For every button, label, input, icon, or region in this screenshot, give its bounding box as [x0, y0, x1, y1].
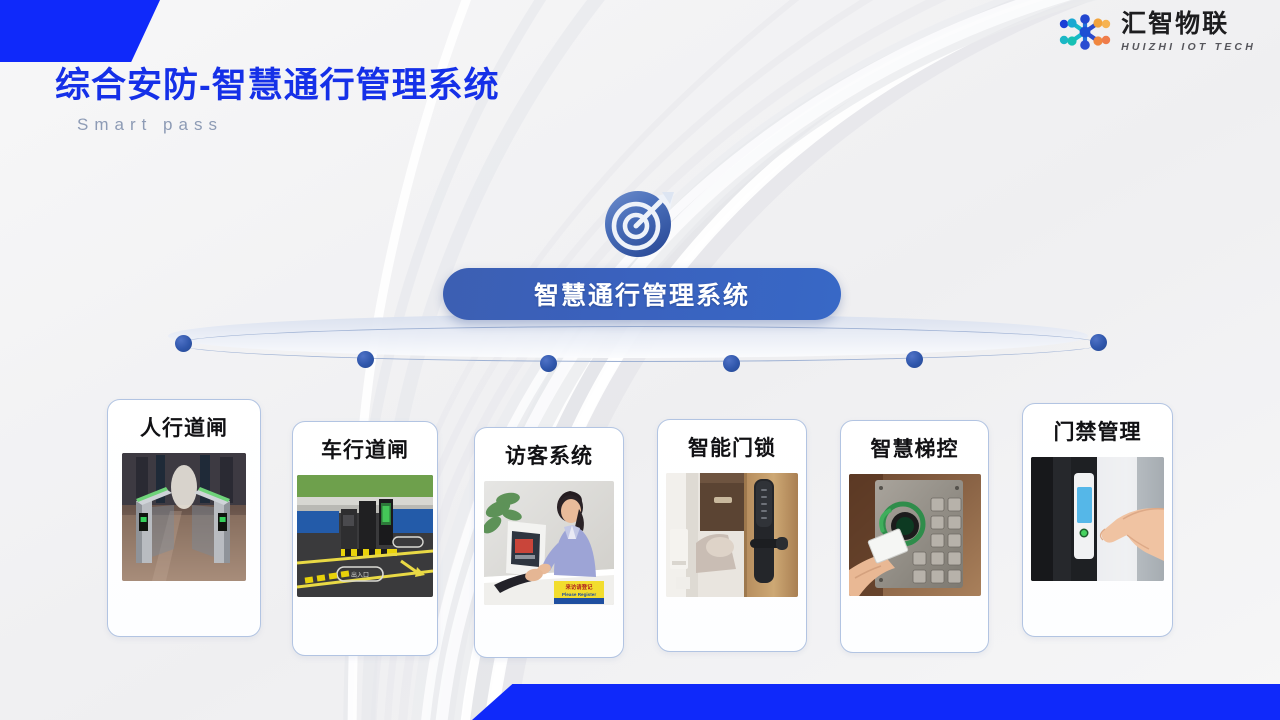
- slide-canvas: 综合安防-智慧通行管理系统 Smart pass 汇智物联 HUIZHI IOT: [0, 0, 1280, 720]
- card-access-control[interactable]: 门禁管理: [1022, 403, 1173, 637]
- brand-logo: 汇智物联 HUIZHI IOT TECH: [1058, 12, 1256, 53]
- access-control-terminal-photo: [1031, 457, 1164, 581]
- connector-dot-6: [1090, 334, 1107, 351]
- svg-text:出入口: 出入口: [351, 571, 369, 579]
- connector-dot-5: [906, 351, 923, 368]
- system-title-label: 智慧通行管理系统: [534, 276, 750, 312]
- bottom-right-accent-bar: [472, 684, 1280, 720]
- visitor-reception-photo: 来访请登记 Please Register: [484, 481, 614, 605]
- card-title: 车行道闸: [321, 434, 409, 464]
- target-arrow-icon: [598, 186, 684, 260]
- card-elevator-control[interactable]: 智慧梯控: [840, 420, 989, 653]
- elevator-card-reader-photo: [849, 474, 981, 596]
- molecule-network-icon: [1058, 12, 1112, 52]
- system-title-pill[interactable]: 智慧通行管理系统: [443, 268, 841, 320]
- brand-name-en: HUIZHI IOT TECH: [1121, 42, 1256, 53]
- svg-text:来访请登记: 来访请登记: [565, 583, 594, 591]
- connector-dot-1: [175, 335, 192, 352]
- vehicle-barrier-gate-photo: 出入口: [297, 475, 433, 597]
- connector-dot-2: [357, 351, 374, 368]
- smart-door-lock-photo: [666, 473, 798, 597]
- svg-text:Please Register: Please Register: [562, 592, 596, 597]
- page-subtitle: Smart pass: [77, 115, 500, 135]
- card-title: 人行道闸: [140, 412, 228, 442]
- card-vehicle-gate[interactable]: 车行道闸: [292, 421, 438, 656]
- brand-logo-text: 汇智物联 HUIZHI IOT TECH: [1121, 12, 1256, 53]
- pedestrian-speed-gate-photo: [122, 453, 246, 581]
- card-pedestrian-gate[interactable]: 人行道闸: [107, 399, 261, 637]
- brand-name-cn: 汇智物联: [1121, 12, 1256, 37]
- card-visitor-system[interactable]: 访客系统: [474, 427, 624, 658]
- page-header: 综合安防-智慧通行管理系统 Smart pass: [55, 66, 500, 135]
- card-title: 访客系统: [505, 440, 593, 470]
- card-smart-lock[interactable]: 智能门锁: [657, 419, 807, 652]
- connector-dot-3: [540, 355, 557, 372]
- card-title: 智能门锁: [688, 432, 776, 462]
- connector-dot-4: [723, 355, 740, 372]
- platform-rim-ring: [176, 326, 1102, 362]
- page-title: 综合安防-智慧通行管理系统: [55, 66, 500, 106]
- card-title: 智慧梯控: [871, 433, 959, 463]
- card-title: 门禁管理: [1054, 416, 1142, 446]
